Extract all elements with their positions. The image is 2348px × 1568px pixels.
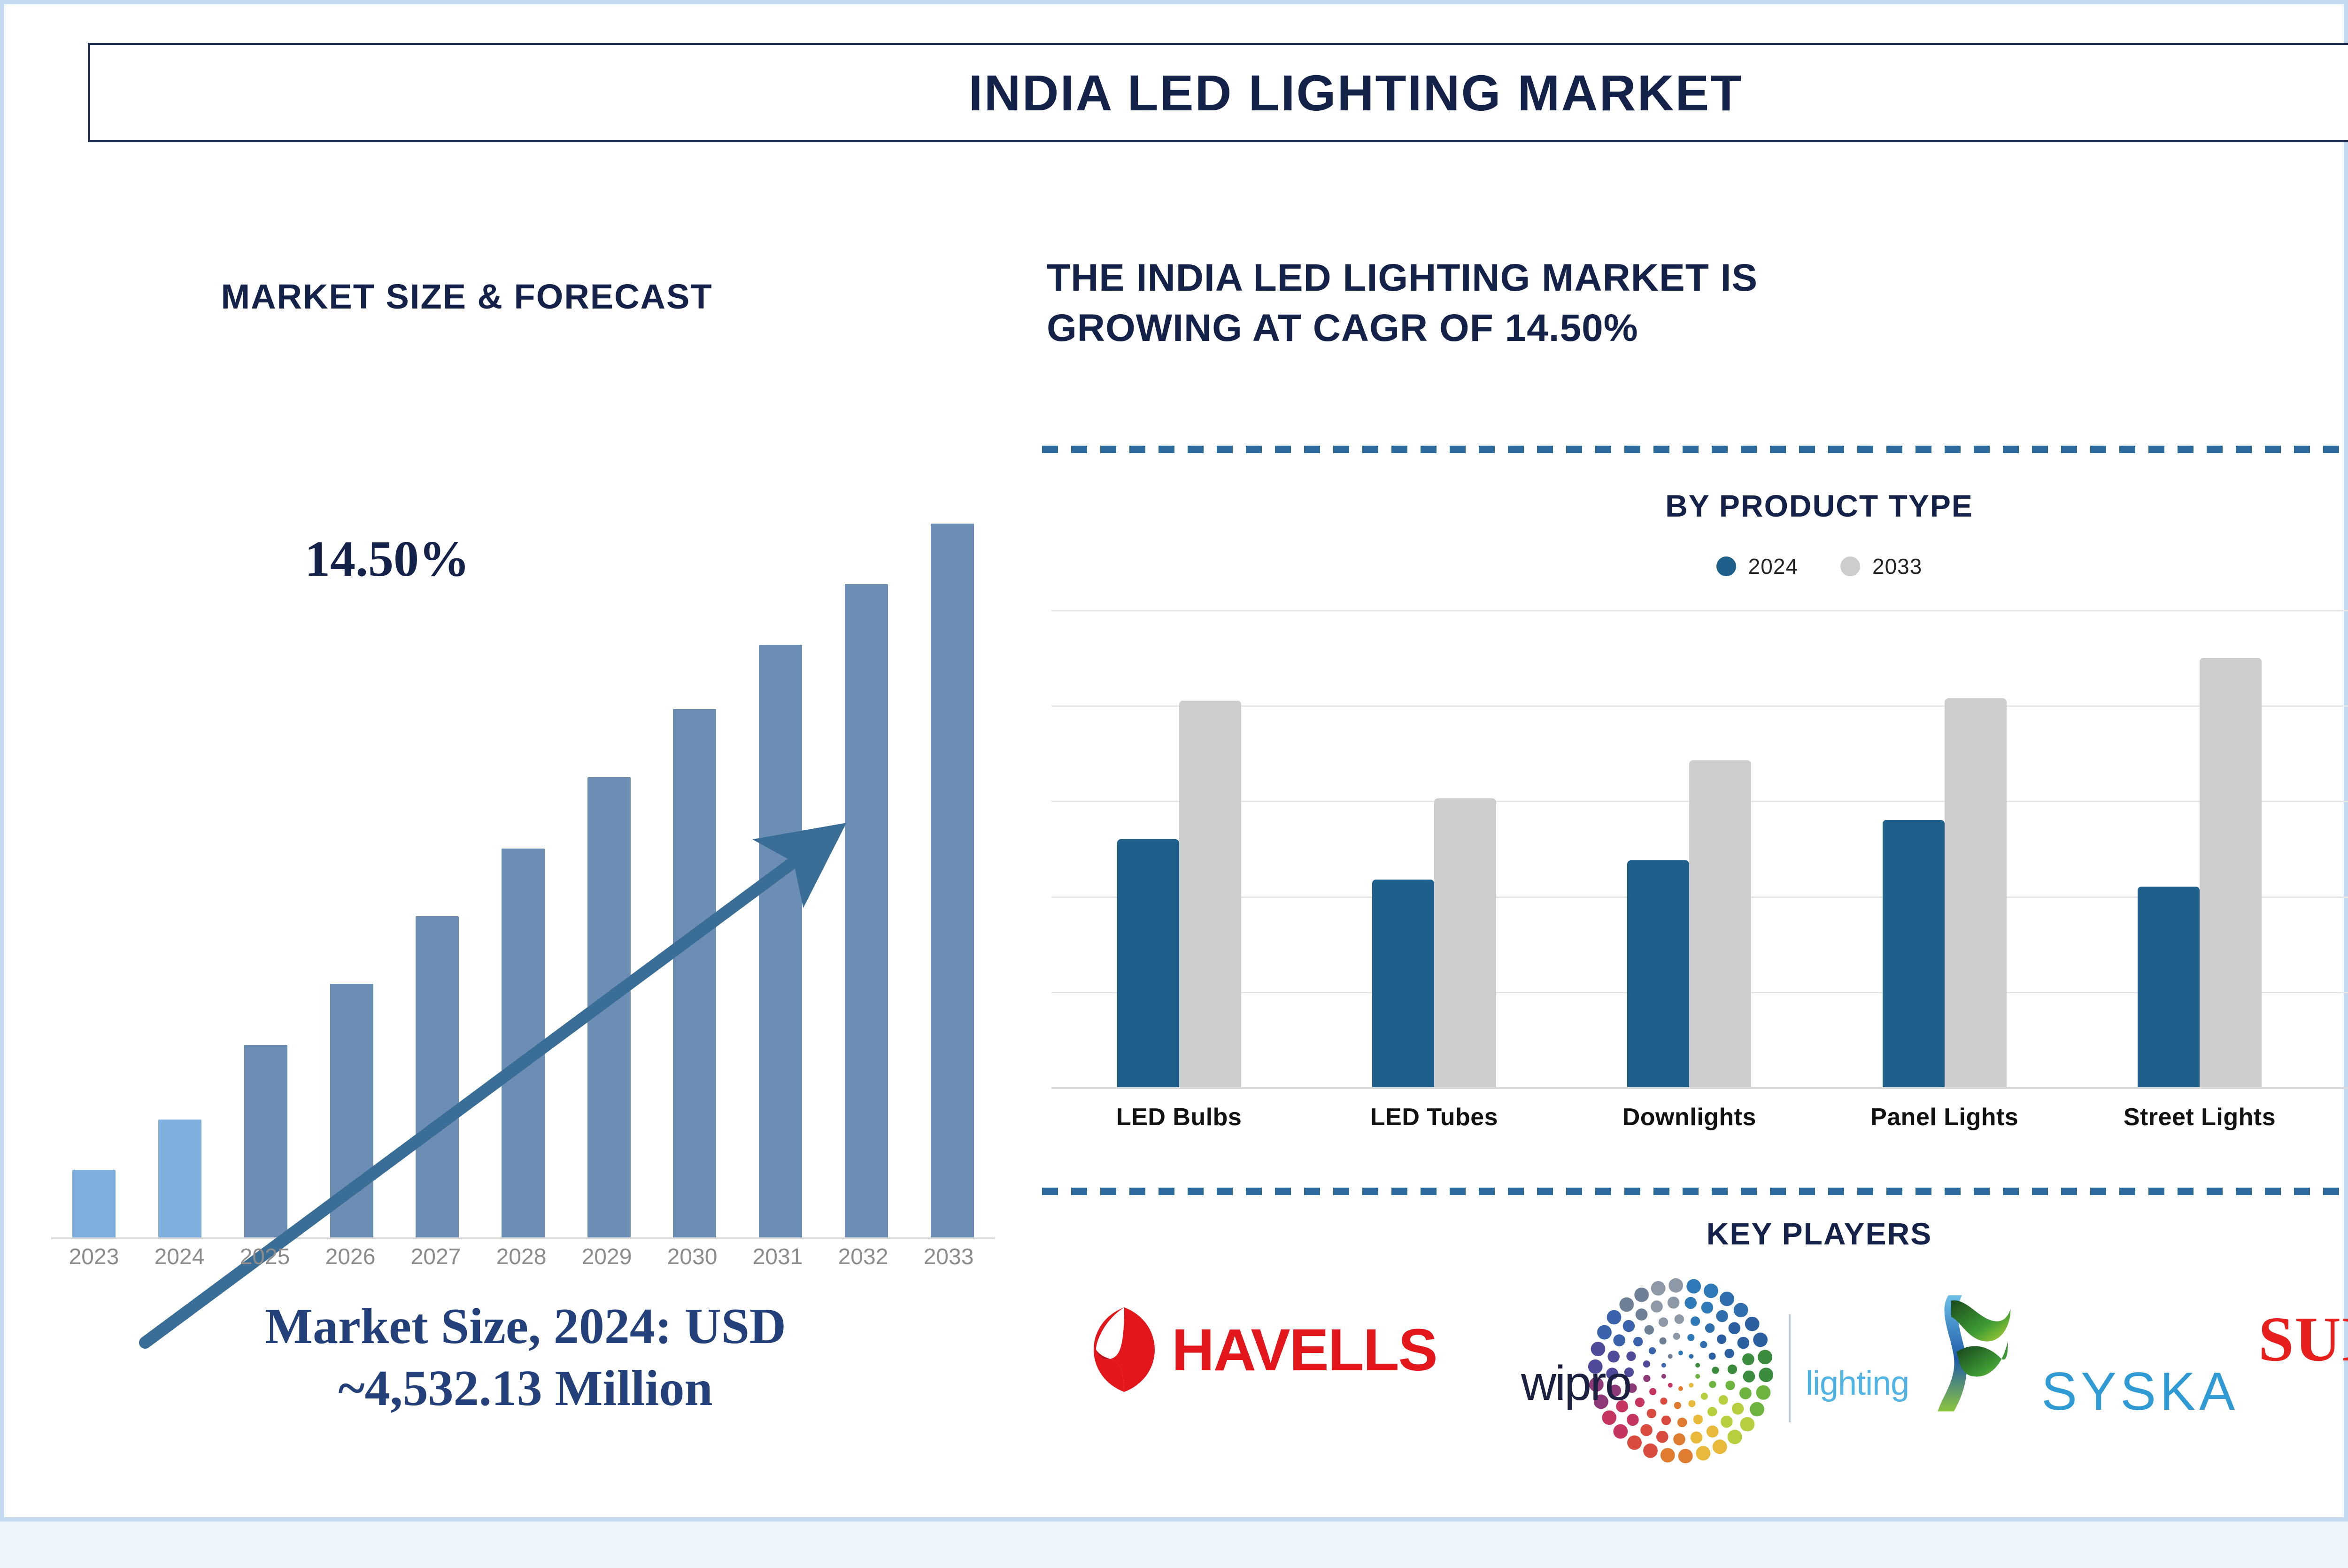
product-bar-2024 [1372, 880, 1434, 1087]
wipro-dot [1732, 1403, 1744, 1415]
market-size-bar [502, 849, 545, 1237]
market-size-year-label: 2027 [393, 1244, 479, 1270]
wipro-divider [1789, 1314, 1791, 1422]
wipro-dot [1668, 1354, 1673, 1359]
wipro-dot [1717, 1335, 1726, 1344]
legend-color-dot [1840, 556, 1860, 576]
wipro-dot [1695, 1363, 1700, 1367]
product-bar-2033 [1434, 798, 1496, 1087]
wipro-dot [1678, 1449, 1693, 1463]
market-size-year-label: 2026 [308, 1244, 393, 1270]
wipro-dot [1651, 1281, 1666, 1296]
bar-cluster [2327, 610, 2348, 1087]
market-size-year-label: 2033 [906, 1244, 991, 1270]
wipro-lighting-label: lighting [1806, 1364, 1909, 1403]
left-panel: MARKET SIZE & FORECAST 14.50% 2023202420… [32, 159, 1012, 1498]
wipro-dot [1636, 1308, 1648, 1321]
wipro-dot [1651, 1300, 1663, 1313]
wipro-dot [1739, 1387, 1752, 1399]
wipro-dot [1689, 1383, 1693, 1388]
wipro-dot [1661, 1448, 1675, 1462]
wipro-dot [1756, 1385, 1771, 1400]
bar-cluster [1306, 610, 1561, 1087]
wipro-dot [1643, 1360, 1650, 1367]
wipro-dot [1591, 1342, 1606, 1356]
wipro-dot [1684, 1297, 1697, 1309]
product-category-label: Street Lights [2072, 1103, 2327, 1131]
wipro-dot [1753, 1333, 1768, 1347]
wipro-dot [1688, 1400, 1695, 1407]
market-size-value: Market Size, 2024: USD ~4,532.13 Million [61, 1296, 990, 1420]
wipro-dot [1619, 1298, 1634, 1312]
wipro-dot [1745, 1317, 1760, 1331]
cagr-headline-line1: THE INDIA LED LIGHTING MARKET IS [1047, 253, 2343, 303]
wipro-dot [1696, 1446, 1710, 1460]
wipro-dot [1693, 1414, 1703, 1424]
wipro-dot [1661, 1415, 1671, 1425]
wipro-dot [1659, 1317, 1668, 1327]
wipro-dot [1647, 1409, 1656, 1418]
wipro-dot [1691, 1316, 1700, 1326]
market-size-year-label: 2028 [479, 1244, 564, 1270]
market-size-bar [587, 777, 631, 1237]
wipro-dot [1627, 1414, 1639, 1426]
infographic-page: INDIA LED LIGHTING MARKET MARKET SIZE & … [0, 0, 2348, 1522]
market-size-bar [759, 645, 802, 1237]
wipro-dot [1668, 1297, 1680, 1309]
wipro-dot [1634, 1288, 1649, 1302]
havells-wordmark: HAVELLS [1172, 1316, 1437, 1384]
market-size-year-label: 2024 [137, 1244, 222, 1270]
divider-top [1042, 446, 2348, 453]
wipro-dot [1678, 1351, 1683, 1355]
market-size-year-label: 2025 [222, 1244, 308, 1270]
product-bar-2024 [1883, 820, 1945, 1087]
wipro-dot [1607, 1310, 1622, 1325]
wipro-dot [1743, 1370, 1755, 1383]
wipro-dot [1674, 1402, 1681, 1409]
wipro-dot [1700, 1341, 1707, 1348]
market-size-bar [673, 709, 716, 1237]
wipro-dot [1724, 1349, 1734, 1358]
market-size-bar [158, 1120, 201, 1237]
wipro-dot [1707, 1407, 1717, 1416]
product-chart-axis-line [1051, 1087, 2348, 1089]
wipro-dot [1677, 1418, 1687, 1427]
wipro-dot [1742, 1353, 1754, 1366]
wipro-dot [1668, 1383, 1673, 1388]
product-type-heading: BY PRODUCT TYPE [1042, 488, 2348, 524]
legend-item[interactable]: 2024 [1716, 554, 1798, 579]
bar-cluster [1051, 610, 1306, 1087]
product-category-label: Panel Lights [1817, 1103, 2072, 1131]
wipro-dot [1675, 1314, 1684, 1324]
wipro-dot [1709, 1352, 1716, 1359]
wipro-dot [1659, 1337, 1666, 1344]
bar-cluster [2072, 610, 2327, 1087]
market-size-axis-line [51, 1237, 995, 1239]
market-size-bar [845, 584, 888, 1237]
legend-color-dot [1716, 556, 1736, 576]
wipro-dot [1719, 1395, 1728, 1405]
product-bar-2033 [1945, 698, 2007, 1087]
market-size-bar [416, 916, 459, 1237]
product-chart-legend: 20242033 [1042, 554, 2348, 579]
wipro-dot [1597, 1325, 1612, 1340]
wipro-dot [1686, 1279, 1701, 1294]
wipro-wordmark: wipro [1521, 1356, 1631, 1412]
market-size-bar [244, 1045, 287, 1237]
wipro-dot [1728, 1430, 1742, 1444]
product-bar-2024 [1627, 860, 1689, 1087]
syska-ribbon-icon [1930, 1282, 2038, 1422]
wipro-dot [1707, 1426, 1719, 1438]
wipro-dot [1635, 1398, 1645, 1407]
wipro-dot [1728, 1365, 1737, 1374]
wipro-dot [1695, 1374, 1700, 1379]
logo-syska: SYSKA [1930, 1282, 2239, 1422]
market-size-year-label: 2030 [649, 1244, 735, 1270]
havells-axe-icon [1089, 1305, 1159, 1394]
wipro-dot [1645, 1325, 1654, 1335]
divider-bottom [1042, 1188, 2348, 1195]
wipro-dot [1649, 1347, 1656, 1354]
product-category-label: LED Bulbs [1051, 1103, 1306, 1131]
wipro-dot [1729, 1322, 1741, 1334]
product-bar-2024 [2138, 887, 2200, 1087]
wipro-dot [1740, 1417, 1755, 1432]
market-size-bar [931, 524, 974, 1237]
wipro-dot [1716, 1310, 1728, 1322]
product-bar-2024 [1117, 839, 1179, 1087]
wipro-dot [1633, 1337, 1643, 1346]
wipro-dot [1668, 1278, 1683, 1293]
bar-cluster [1562, 610, 1817, 1087]
logo-wipro: wipro lighting [1521, 1277, 1878, 1465]
product-bar-2033 [1179, 701, 1241, 1087]
market-size-year-labels: 2023202420252026202720282029203020312032… [51, 1244, 995, 1270]
wipro-dot [1613, 1424, 1628, 1439]
wipro-dot [1627, 1436, 1642, 1450]
wipro-dot [1750, 1402, 1764, 1417]
market-size-value-line2: ~4,532.13 Million [61, 1358, 990, 1420]
product-category-label: Others [2327, 1103, 2348, 1131]
wipro-dot [1649, 1388, 1656, 1395]
product-category-label: LED Tubes [1306, 1103, 1561, 1131]
wipro-dot [1712, 1367, 1719, 1374]
title-box: INDIA LED LIGHTING MARKET [88, 43, 2348, 142]
wipro-dot [1643, 1444, 1658, 1458]
wipro-dot [1660, 1398, 1667, 1405]
wipro-dot [1643, 1375, 1650, 1382]
page-title: INDIA LED LIGHTING MARKET [969, 63, 1743, 122]
wipro-dot [1758, 1350, 1772, 1364]
wipro-dot [1689, 1354, 1693, 1359]
legend-item[interactable]: 2033 [1840, 554, 1922, 579]
logo-havells: HAVELLS [1089, 1305, 1437, 1394]
wipro-dot [1673, 1333, 1680, 1340]
wipro-dot [1720, 1292, 1734, 1306]
right-panel: THE INDIA LED LIGHTING MARKET IS GROWING… [1042, 159, 2348, 1498]
wipro-dot [1701, 1302, 1714, 1314]
bar-cluster [1817, 610, 2072, 1087]
product-bar-2033 [2200, 658, 2262, 1087]
wipro-dot [1705, 1323, 1715, 1333]
market-size-value-line1: Market Size, 2024: USD [61, 1296, 990, 1358]
market-size-year-label: 2031 [735, 1244, 820, 1270]
market-size-year-label: 2032 [820, 1244, 906, 1270]
legend-label: 2033 [1872, 554, 1922, 579]
wipro-dot [1673, 1433, 1685, 1445]
wipro-dot [1721, 1416, 1733, 1428]
syska-wordmark: SYSKA [2041, 1361, 2239, 1422]
cagr-headline: THE INDIA LED LIGHTING MARKET IS GROWING… [1047, 253, 2343, 353]
market-size-heading: MARKET SIZE & FORECAST [126, 277, 807, 317]
wipro-dot [1640, 1424, 1653, 1437]
market-size-year-label: 2023 [51, 1244, 137, 1270]
wipro-dot [1704, 1283, 1718, 1298]
market-size-bar [72, 1170, 116, 1237]
product-type-bar-chart [1051, 610, 2348, 1089]
wipro-dot [1656, 1431, 1668, 1443]
market-size-year-label: 2029 [564, 1244, 649, 1270]
key-players-logos: HAVELLS wipro lighting [1042, 1277, 2348, 1474]
wipro-dot [1701, 1393, 1708, 1400]
wipro-dot [1734, 1303, 1748, 1317]
wipro-dot [1623, 1320, 1635, 1332]
wipro-dot [1602, 1410, 1616, 1425]
wipro-dot [1687, 1334, 1694, 1341]
market-size-bar [330, 984, 373, 1237]
surya-wordmark: SURYA [2258, 1303, 2348, 1376]
wipro-dot [1713, 1439, 1727, 1454]
wipro-dot [1738, 1337, 1750, 1349]
key-players-heading: KEY PLAYERS [1042, 1216, 2348, 1251]
market-size-bar-chart [51, 488, 995, 1239]
logo-surya: SURYA [2258, 1303, 2348, 1376]
product-category-label: Downlights [1562, 1103, 1817, 1131]
legend-label: 2024 [1748, 554, 1798, 579]
cagr-headline-line2: GROWING AT CAGR OF 14.50% [1047, 303, 2343, 354]
wipro-dot [1709, 1381, 1716, 1388]
product-bar-2033 [1689, 760, 1751, 1087]
wipro-dot [1725, 1381, 1735, 1390]
wipro-dot [1613, 1334, 1625, 1346]
wipro-dot [1661, 1374, 1666, 1379]
wipro-dot [1691, 1431, 1703, 1444]
wipro-dot [1759, 1367, 1773, 1382]
product-chart-category-labels: LED BulbsLED TubesDownlightsPanel Lights… [1051, 1103, 2348, 1141]
wipro-dot [1678, 1386, 1683, 1391]
wipro-dot [1661, 1363, 1666, 1367]
